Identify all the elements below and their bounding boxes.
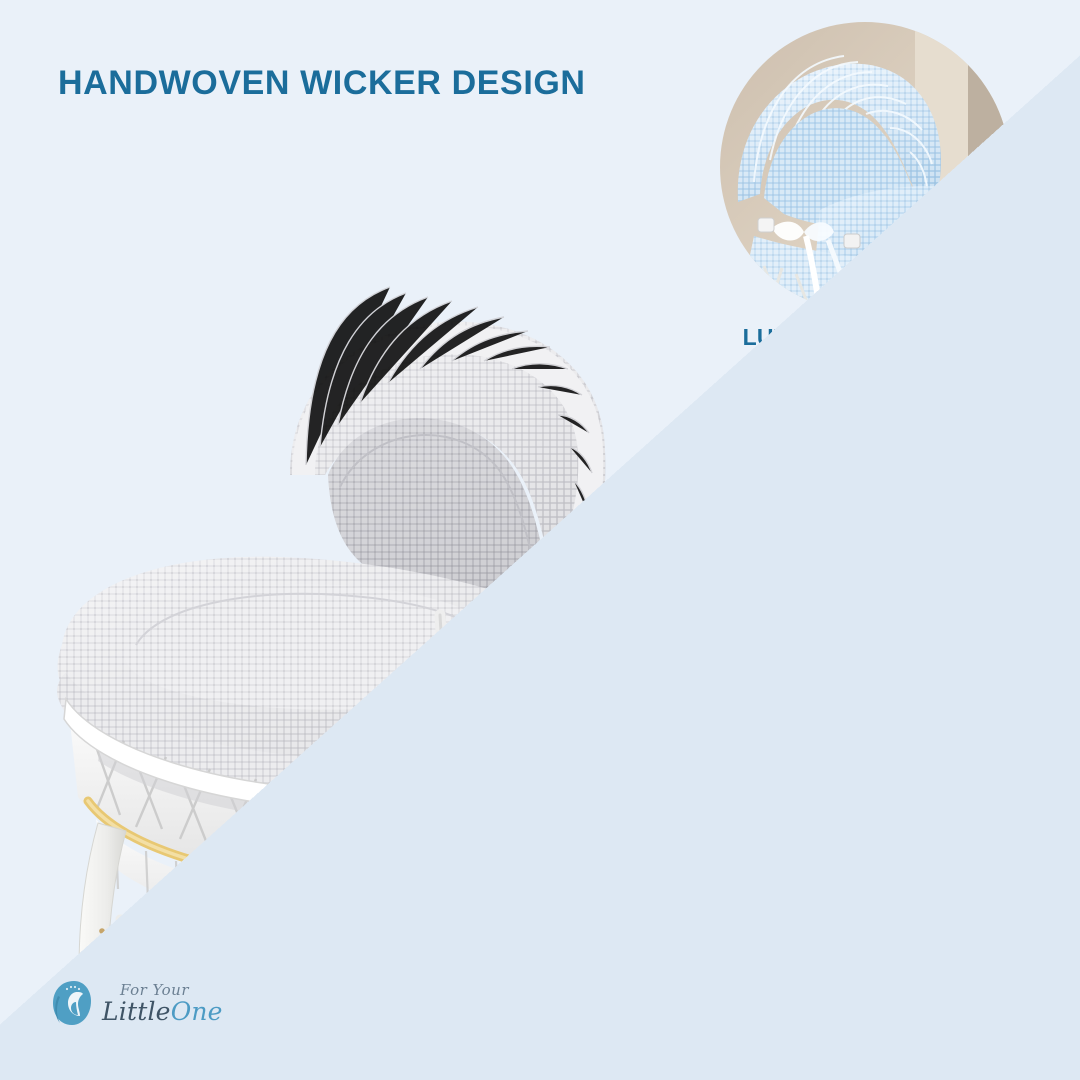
brand-logo: For Your LittleOne: [50, 972, 230, 1034]
feature-3-caption: CAN BE PAIRED WITH WOODEN ROCKING STAND …: [665, 988, 1065, 1069]
feature-block-1: LUXURIOUSLY WARM FABRIC: [700, 22, 1030, 378]
feature-1-image: [720, 22, 1010, 312]
feature-3-image: [720, 686, 1010, 976]
page-title: HANDWOVEN WICKER DESIGN: [58, 64, 586, 103]
infographic-canvas: HANDWOVEN WICKER DESIGN: [0, 0, 1080, 1080]
logo-one: One: [171, 997, 223, 1026]
hero-product-image: [40, 175, 660, 985]
feature-block-2: INCLUDES PATTERN FOR CLASSY APPEAL: [700, 355, 1030, 711]
logo-line-2: LittleOne: [102, 999, 223, 1024]
mother-and-baby-icon: [50, 978, 96, 1028]
logo-line-1: For Your: [120, 983, 223, 998]
logo-little: Little: [102, 997, 171, 1026]
feature-block-3: CAN BE PAIRED WITH WOODEN ROCKING STAND …: [700, 686, 1030, 1069]
feature-2-image: [720, 355, 1010, 645]
